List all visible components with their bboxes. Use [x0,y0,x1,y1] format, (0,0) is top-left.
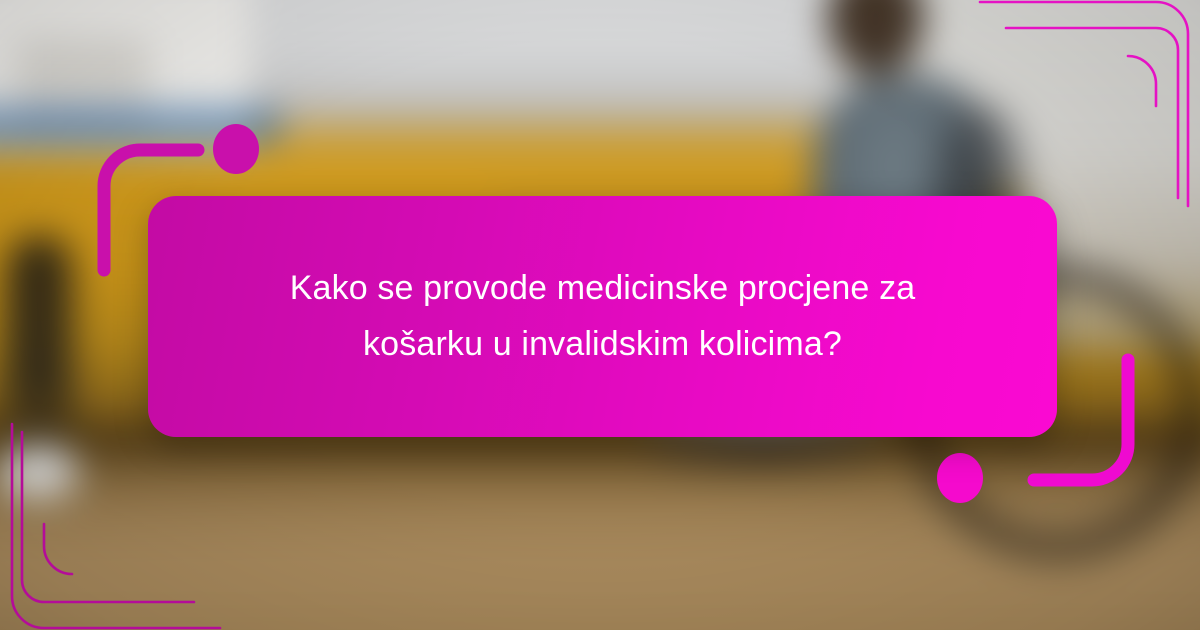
dot-bottom-right [937,453,983,503]
dot-top-left [213,124,259,174]
social-card-canvas: Kako se provode medicinske procjene za k… [0,0,1200,630]
question-card: Kako se provode medicinske procjene za k… [148,196,1057,437]
question-text: Kako se provode medicinske procjene za k… [253,261,953,371]
